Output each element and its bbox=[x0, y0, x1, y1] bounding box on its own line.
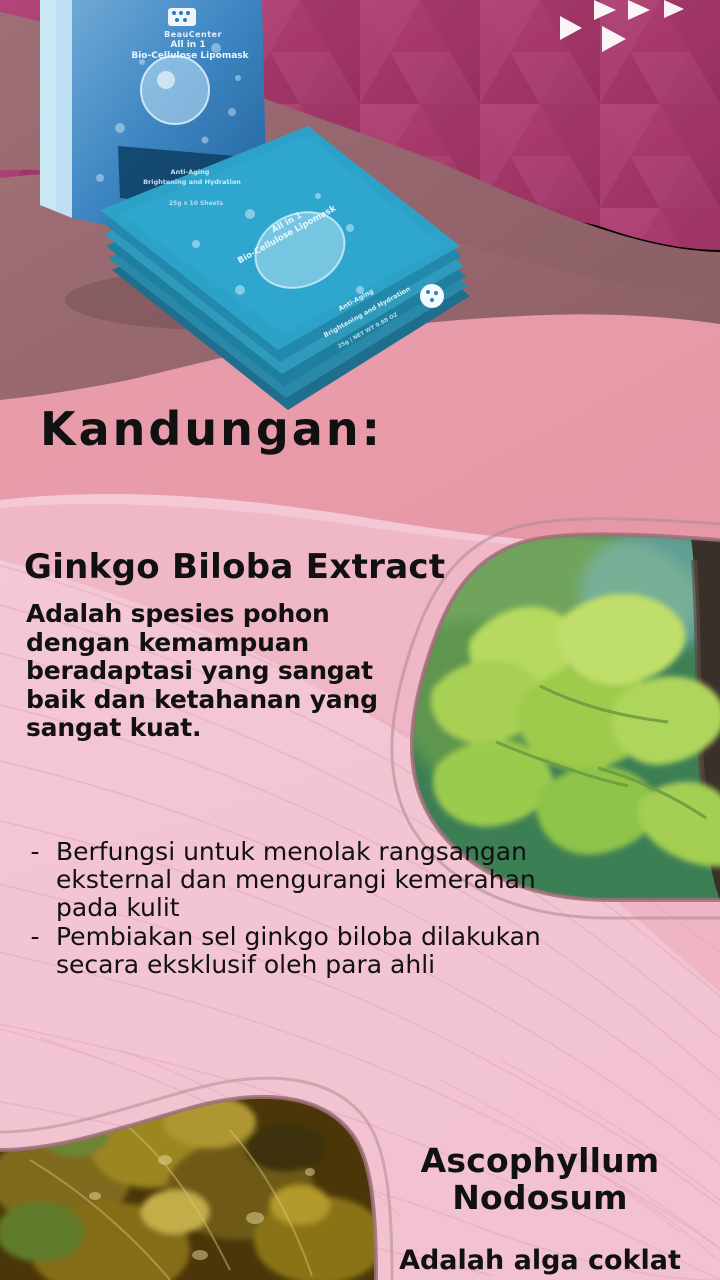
bullet-marker: - bbox=[14, 923, 56, 979]
poster-canvas: BeauCenter All in 1 Bio-Cellulose Lipoma… bbox=[0, 0, 720, 1280]
ingredient-title-ascophyllum: Ascophyllum Nodosum bbox=[380, 1143, 700, 1217]
page-title: Kandungan: bbox=[40, 405, 383, 453]
ingredient-bullet-list: - Berfungsi untuk menolak rangsangan eks… bbox=[14, 838, 594, 980]
ingredient-description-ginkgo: Adalah spesies pohon dengan kemampuan be… bbox=[26, 600, 386, 743]
ingredient-description-ascophyllum: Adalah alga coklat bbox=[380, 1246, 700, 1276]
list-item: - Berfungsi untuk menolak rangsangan eks… bbox=[14, 838, 594, 922]
list-item: - Pembiakan sel ginkgo biloba dilakukan … bbox=[14, 923, 594, 979]
bullet-marker: - bbox=[14, 838, 56, 922]
bullet-text: Berfungsi untuk menolak rangsangan ekste… bbox=[56, 838, 594, 922]
bullet-text: Pembiakan sel ginkgo biloba dilakukan se… bbox=[56, 923, 594, 979]
ingredient-title-ginkgo: Ginkgo Biloba Extract bbox=[24, 549, 445, 586]
